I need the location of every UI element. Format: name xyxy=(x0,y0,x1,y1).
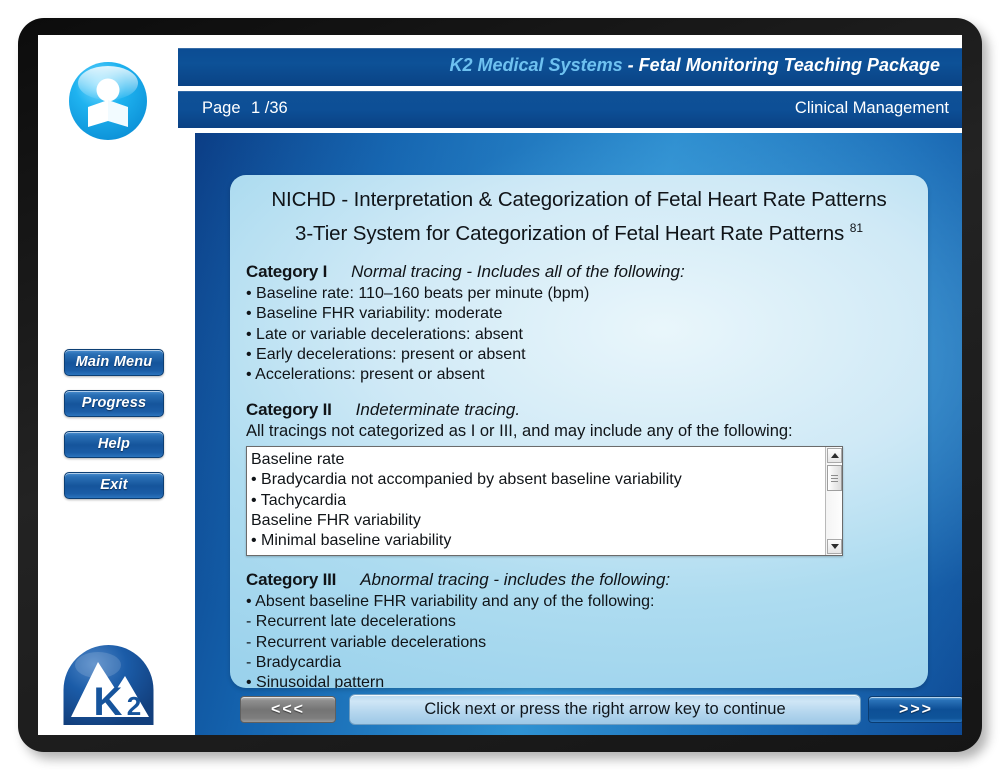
sidebar-item-label: Progress xyxy=(82,395,146,411)
sidebar-nav: Main Menu Progress Help Exit xyxy=(64,349,164,499)
category-2-scroll-box[interactable]: Baseline rate • Bradycardia not accompan… xyxy=(246,446,843,556)
list-item: • Early decelerations: present or absent xyxy=(246,345,912,365)
category-2-heading: Category IIIndeterminate tracing. xyxy=(246,400,912,420)
previous-page-label: <<< xyxy=(241,697,335,722)
k2-mountain-logo-icon: K 2 xyxy=(61,643,156,729)
sidebar-item-progress[interactable]: Progress xyxy=(64,390,164,417)
sidebar-item-label: Exit xyxy=(100,477,127,493)
hint-message-text: Click next or press the right arrow key … xyxy=(350,695,860,724)
category-3-name: Category III xyxy=(246,570,336,589)
list-item: • Tachycardia xyxy=(251,491,822,511)
sidebar-item-label: Help xyxy=(98,436,130,452)
bottom-navigation-bar: <<< Click next or press the right arrow … xyxy=(215,690,962,735)
category-3-description: Abnormal tracing - includes the followin… xyxy=(360,570,670,589)
category-2-scroll-content: Baseline rate • Bradycardia not accompan… xyxy=(251,450,822,552)
sidebar-item-label: Main Menu xyxy=(76,354,153,370)
list-item: • Baseline rate: 110–160 beats per minut… xyxy=(246,284,912,304)
sidebar-item-exit[interactable]: Exit xyxy=(64,472,164,499)
category-1-description: Normal tracing - Includes all of the fol… xyxy=(351,262,685,281)
page-label: Page xyxy=(202,99,241,118)
brand-name: K2 Medical Systems xyxy=(450,55,623,75)
category-2-name: Category II xyxy=(246,400,332,419)
sidebar-item-help[interactable]: Help xyxy=(64,431,164,458)
scrollbar-thumb[interactable] xyxy=(827,465,842,491)
category-1-heading: Category INormal tracing - Includes all … xyxy=(246,262,912,282)
open-book-person-icon xyxy=(66,59,150,143)
list-item: • Absent baseline FHR variability and an… xyxy=(246,592,912,612)
next-page-label: >>> xyxy=(869,697,962,722)
page-number: 1 /36 xyxy=(251,99,288,118)
category-1-name: Category I xyxy=(246,262,327,281)
category-2-subline: All tracings not categorized as I or III… xyxy=(246,422,912,441)
app-title-bar: K2 Medical Systems - Fetal Monitoring Te… xyxy=(178,48,962,86)
previous-page-button[interactable]: <<< xyxy=(240,696,336,723)
category-3-list: • Absent baseline FHR variability and an… xyxy=(246,592,912,688)
list-item: • Minimal baseline variability xyxy=(251,531,822,551)
lesson-panel: NICHD - Interpretation & Categorization … xyxy=(230,175,928,688)
svg-text:K: K xyxy=(94,680,123,724)
svg-text:2: 2 xyxy=(127,691,141,721)
left-sidebar: Main Menu Progress Help Exit xyxy=(38,35,175,735)
list-item: Baseline FHR variability xyxy=(251,511,822,531)
category-2-description: Indeterminate tracing. xyxy=(356,400,520,419)
device-frame: Main Menu Progress Help Exit xyxy=(18,18,982,752)
vertical-scrollbar[interactable] xyxy=(825,447,842,555)
list-item: Baseline rate xyxy=(251,450,822,470)
list-item: • Accelerations: present or absent xyxy=(246,365,912,385)
scroll-up-arrow-icon[interactable] xyxy=(827,448,842,463)
lesson-title-line-1: NICHD - Interpretation & Categorization … xyxy=(246,186,912,214)
application-screen: Main Menu Progress Help Exit xyxy=(38,35,962,735)
list-item: • Late or variable decelerations: absent xyxy=(246,325,912,345)
list-item: - Recurrent variable decelerations xyxy=(246,633,912,653)
app-title: K2 Medical Systems - Fetal Monitoring Te… xyxy=(450,55,940,76)
list-item: • Sinusoidal pattern xyxy=(246,673,912,688)
content-backdrop: NICHD - Interpretation & Categorization … xyxy=(195,133,962,735)
section-title: Clinical Management xyxy=(795,99,949,118)
hint-message-bar: Click next or press the right arrow key … xyxy=(349,694,861,725)
list-item: • Bradycardia not accompanied by absent … xyxy=(251,470,822,490)
main-area: K2 Medical Systems - Fetal Monitoring Te… xyxy=(175,35,962,735)
next-page-button[interactable]: >>> xyxy=(868,696,962,723)
category-1-list: • Baseline rate: 110–160 beats per minut… xyxy=(246,284,912,386)
category-3-heading: Category IIIAbnormal tracing - includes … xyxy=(246,570,912,590)
lesson-title-line-2-text: 3-Tier System for Categorization of Feta… xyxy=(295,222,844,245)
list-item: • Baseline FHR variability: moderate xyxy=(246,304,912,324)
reference-superscript: 81 xyxy=(850,221,863,235)
page-info-bar: Page 1 /36 Clinical Management xyxy=(178,91,962,128)
lesson-title-line-2: 3-Tier System for Categorization of Feta… xyxy=(246,214,912,248)
list-item: - Bradycardia xyxy=(246,653,912,673)
sidebar-item-main-menu[interactable]: Main Menu xyxy=(64,349,164,376)
scroll-down-arrow-icon[interactable] xyxy=(827,539,842,554)
product-name: - Fetal Monitoring Teaching Package xyxy=(623,55,940,75)
list-item: - Recurrent late decelerations xyxy=(246,612,912,632)
